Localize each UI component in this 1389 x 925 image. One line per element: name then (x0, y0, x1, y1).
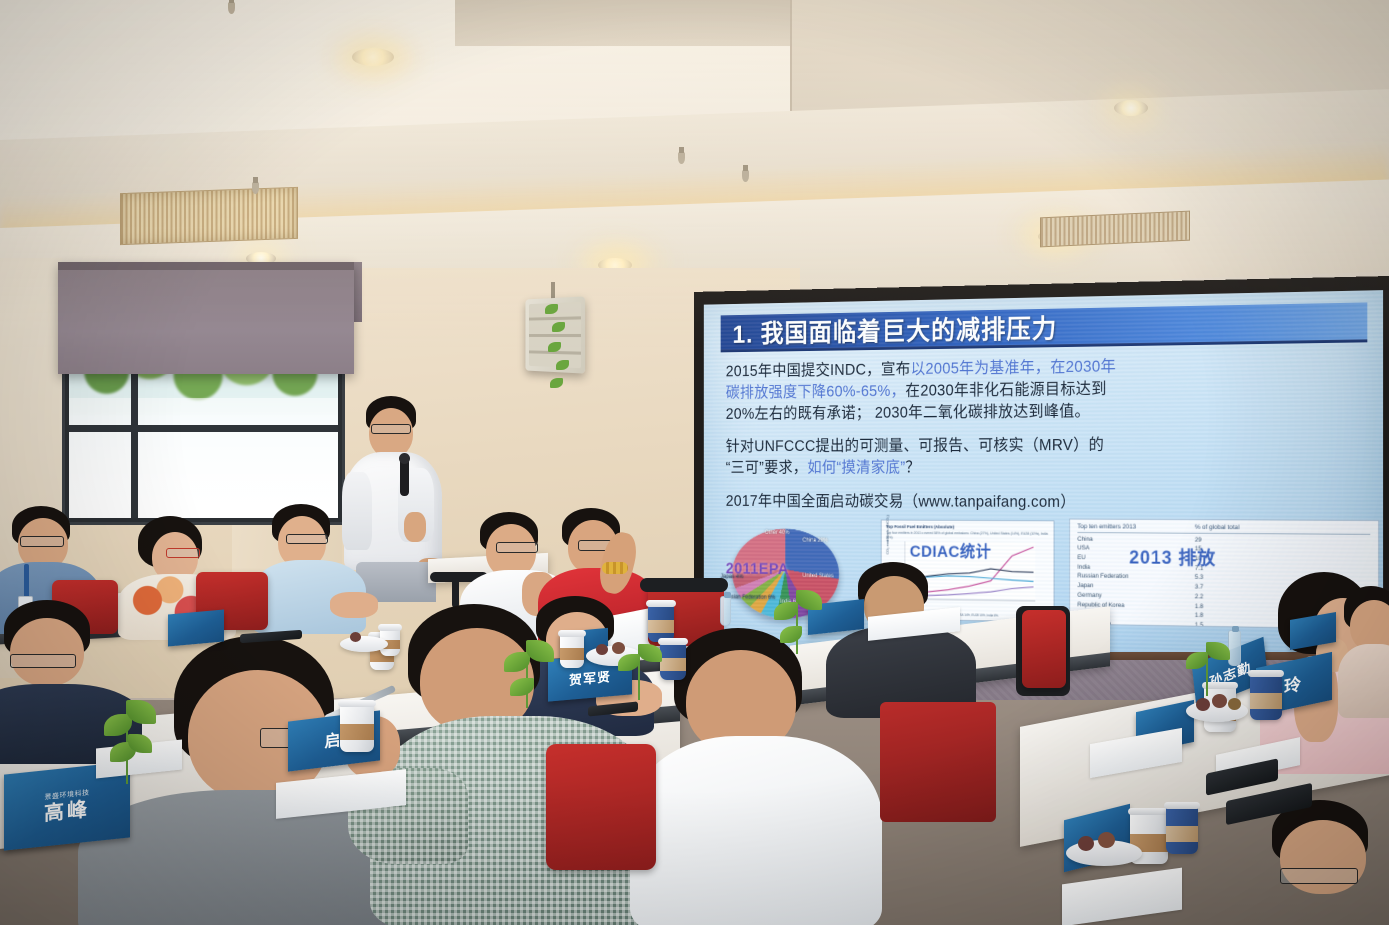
shirt-print (684, 768, 746, 794)
slide-paragraph-1: 2015年中国提交INDC，宣布以2005年为基准年，在2030年碳排放强度下降… (726, 352, 1373, 424)
fruit-plate (340, 636, 388, 652)
slide-text-line: 2017年中国全面启动碳交易（www.tanpaifang.com） (726, 491, 1373, 515)
attendee-glasses (10, 654, 76, 668)
table-plant (772, 582, 828, 662)
table-header: Top ten emitters 2013 % of global total (1077, 523, 1370, 534)
slide-title-bar: 1. 我国面临着巨大的减排压力 (721, 302, 1368, 352)
fruit (350, 632, 361, 642)
slide-text-segment: 20%左右的既有承诺； 2030年二氧化碳排放达到峰值。 (726, 402, 1090, 422)
slide-body: 2015年中国提交INDC，宣布以2005年为基准年，在2030年碳排放强度下降… (726, 352, 1373, 514)
slide-paragraph-3: 2017年中国全面启动碳交易（www.tanpaifang.com） (726, 491, 1373, 515)
slide-title: 1. 我国面临着巨大的减排压力 (733, 308, 1058, 351)
slide-text-line: “三可”要求，如何“摸清家底”？ (726, 456, 1373, 479)
attendee-light-blue-shirt (256, 504, 368, 626)
slide-text-line: 针对UNFCCC提出的可测量、可报告、可核实（MRV）的 (726, 433, 1373, 457)
slide-text-segment: 以2005年为基准年，在2030年 (911, 358, 1117, 378)
fruit (1098, 832, 1115, 848)
placard-name: 高峰 (44, 800, 90, 825)
pie-chart-stamp: 2011EPA (726, 559, 789, 578)
slide-paragraph-2: 针对UNFCCC提出的可测量、可报告、可核实（MRV）的“三可”要求，如何“摸清… (726, 433, 1373, 478)
table-plant (98, 686, 158, 796)
conference-room-photo: 1. 我国面临着巨大的减排压力 2015年中国提交INDC，宣布以2005年为基… (0, 0, 1389, 925)
sprinkler-icon (742, 170, 749, 182)
presenter-glasses (371, 424, 411, 434)
table-plant (500, 630, 560, 720)
attendee-shirt (630, 736, 882, 925)
beaded-bracelet (602, 562, 628, 574)
table-plant (1184, 636, 1234, 706)
slide-text-segment: 碳排放强度下降60%-65%， (726, 382, 906, 401)
slide-text-segment: 2015年中国提交INDC，宣布 (726, 361, 911, 380)
water-bottle[interactable] (720, 596, 731, 626)
table-cell: 1.8 (1195, 611, 1203, 621)
ceiling (0, 0, 1389, 300)
attendee-right-edge (1344, 586, 1389, 706)
table-plant (616, 636, 666, 710)
table-cell: 3.7 (1195, 583, 1203, 593)
fruit (1078, 836, 1094, 851)
ceiling-recess (455, 0, 790, 46)
name-placard (168, 610, 224, 647)
coffee-cup[interactable] (340, 704, 374, 752)
slide-text-segment: 针对UNFCCC提出的可测量、可报告、可核实（MRV）的 (726, 437, 1104, 456)
slide-text-segment: 在2030年非化石能源目标达到 (905, 380, 1106, 399)
attendee-glasses (286, 534, 328, 544)
table-cell: 1.8 (1195, 602, 1203, 612)
pie-slice-label: United States (803, 573, 834, 579)
blind-rail (58, 262, 354, 270)
table-cell: 1.5 (1195, 621, 1203, 630)
window-glare (69, 398, 338, 518)
sprinkler-icon (228, 2, 235, 14)
air-vent-icon (120, 187, 298, 245)
fruit (596, 644, 608, 655)
sprinkler-icon (252, 182, 259, 194)
attendee-glasses (166, 548, 200, 558)
microphone-icon (400, 458, 409, 496)
line-chart-title: Top Fossil Fuel Emitters (Absolute) (886, 524, 1049, 531)
table-stamp: 2013 排放 (1129, 543, 1216, 570)
table-col-header: Top ten emitters 2013 (1077, 523, 1194, 530)
downlight-icon (1114, 100, 1148, 116)
chair-cushion (1022, 610, 1066, 688)
attendee-shirt (1338, 644, 1389, 718)
sprinkler-icon (678, 152, 685, 164)
coffee-cup[interactable] (1250, 674, 1282, 720)
coffee-cup[interactable] (1166, 806, 1198, 854)
roller-blind[interactable] (58, 262, 354, 374)
presenter-hand (404, 512, 426, 542)
attendee-bottom-right (1258, 800, 1389, 925)
placard-name (195, 624, 198, 633)
pie-slice-label: Other 40% (765, 530, 790, 536)
placard-name: 玲 (1284, 674, 1304, 695)
slide-text-segment: 2017年中国全面启动碳交易（www.tanpaifang.com） (726, 493, 1076, 511)
lanyard (24, 564, 29, 598)
slide-text-segment: 如何“摸清家底” (807, 459, 905, 476)
light-pool (318, 32, 430, 84)
table-col-header: % of global total (1195, 524, 1240, 531)
line-chart-stamp: CDIAC统计 (910, 538, 991, 562)
table-cell: 2.2 (1195, 592, 1203, 602)
slide-text-segment: ？ (905, 459, 920, 476)
table-cell: 5.3 (1195, 573, 1203, 583)
coffee-cup[interactable] (560, 634, 584, 668)
attendee-glasses (496, 542, 538, 553)
placard-name: 贺军贤 (569, 670, 611, 687)
window-mullion (69, 425, 338, 432)
attendee-glasses (20, 536, 64, 547)
attendee-head (10, 618, 84, 686)
chair[interactable] (880, 702, 996, 822)
attendee-glasses (1280, 868, 1358, 884)
chair[interactable] (546, 744, 656, 870)
pie-slice-label: China 28% (803, 538, 828, 544)
chair-frame (640, 578, 728, 592)
line-chart-ylabel: CO₂ emissions (GtCO₂) (885, 515, 889, 555)
slide-text-segment: “三可”要求， (726, 459, 808, 476)
